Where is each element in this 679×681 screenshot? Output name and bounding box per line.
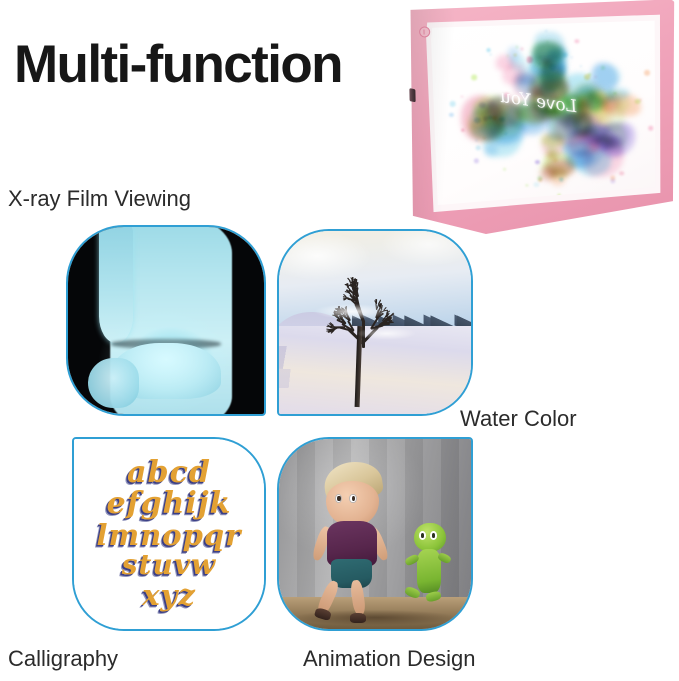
paint-speck	[499, 117, 505, 122]
paint-speck	[492, 116, 497, 120]
usb-port-icon	[409, 88, 415, 102]
calligraphy-image: abcd efghijk lmnopqr stuvw xyz	[74, 439, 264, 629]
paint-speck	[571, 56, 573, 58]
alien-character	[400, 523, 458, 622]
paint-speck	[503, 168, 506, 171]
power-button-icon[interactable]	[419, 26, 430, 37]
paint-speck	[640, 99, 642, 101]
paint-speck	[490, 54, 492, 56]
led-light-pad-product: Love You	[404, 0, 679, 237]
paint-speck	[526, 57, 533, 63]
calligraphy-row: efghijk	[107, 489, 232, 520]
paint-speck	[601, 66, 605, 70]
paint-speck	[538, 63, 540, 65]
paint-speck	[534, 182, 540, 188]
paint-speck	[506, 54, 508, 56]
calligraphy-row: abcd	[127, 458, 211, 489]
paint-speck	[538, 56, 540, 58]
paint-speck	[575, 39, 579, 43]
paint-speck	[483, 137, 486, 139]
calligraphy-alphabet: abcd efghijk lmnopqr stuvw xyz	[74, 439, 264, 629]
paint-speck	[483, 116, 488, 121]
paint-speck	[560, 178, 564, 181]
paint-speck	[475, 145, 480, 150]
paint-speck	[471, 74, 478, 80]
paint-speck	[620, 171, 624, 175]
paint-speck	[562, 52, 568, 57]
paint-speck	[520, 47, 523, 50]
paint-speck	[545, 30, 548, 32]
panel-animation-design	[277, 437, 473, 631]
tree-branch	[380, 303, 381, 307]
panel-water-color	[277, 229, 473, 416]
paint-speck	[580, 65, 582, 67]
boy-head	[326, 481, 379, 526]
light-pad-screen: Love You	[430, 20, 660, 206]
paint-speck	[648, 126, 653, 131]
paint-speck	[584, 74, 590, 80]
xray-image	[68, 227, 264, 414]
paint-speck	[486, 49, 490, 53]
caption-water-color: Water Color	[460, 408, 577, 430]
tree-branch	[357, 282, 358, 285]
calligraphy-row: stuvw	[122, 551, 216, 580]
tree-branch	[389, 322, 394, 323]
paint-splatter	[595, 64, 621, 86]
panel-xray-film-viewing	[66, 225, 266, 416]
watercolor-winter-image	[279, 231, 471, 414]
paint-speck	[474, 159, 479, 164]
paint-speck	[594, 75, 597, 77]
paint-speck	[474, 117, 481, 123]
paint-speck	[526, 184, 528, 186]
paint-speck	[449, 113, 453, 117]
paint-speck	[449, 101, 455, 107]
boy-eye-right	[349, 494, 356, 504]
calligraphy-row: xyz	[142, 581, 196, 611]
boy-character	[310, 462, 398, 622]
paint-speck	[462, 128, 465, 131]
paint-speck	[644, 70, 651, 76]
paint-speck	[475, 140, 477, 142]
caption-calligraphy: Calligraphy	[8, 648, 118, 670]
animation-design-image	[279, 439, 471, 629]
panel-calligraphy: abcd efghijk lmnopqr stuvw xyz	[72, 437, 266, 631]
boy-shoe-right	[350, 613, 366, 623]
page-title: Multi-function	[14, 38, 342, 91]
caption-animation-design: Animation Design	[303, 648, 475, 670]
paint-speck	[535, 160, 540, 164]
xray-backlight-glow	[68, 227, 264, 414]
paint-speck	[478, 102, 485, 109]
paint-speck	[461, 96, 463, 98]
paint-speck	[515, 46, 518, 49]
paint-splatter	[602, 137, 624, 157]
paint-speck	[546, 41, 548, 43]
paint-splatter	[495, 54, 514, 70]
caption-xray-film-viewing: X-ray Film Viewing	[8, 188, 191, 210]
paint-speck	[549, 64, 556, 71]
calligraphy-row: lmnopqr	[97, 521, 242, 551]
product-feature-image: Multi-function X-ray Film Viewing Water …	[0, 0, 679, 681]
paint-speck	[538, 178, 542, 182]
